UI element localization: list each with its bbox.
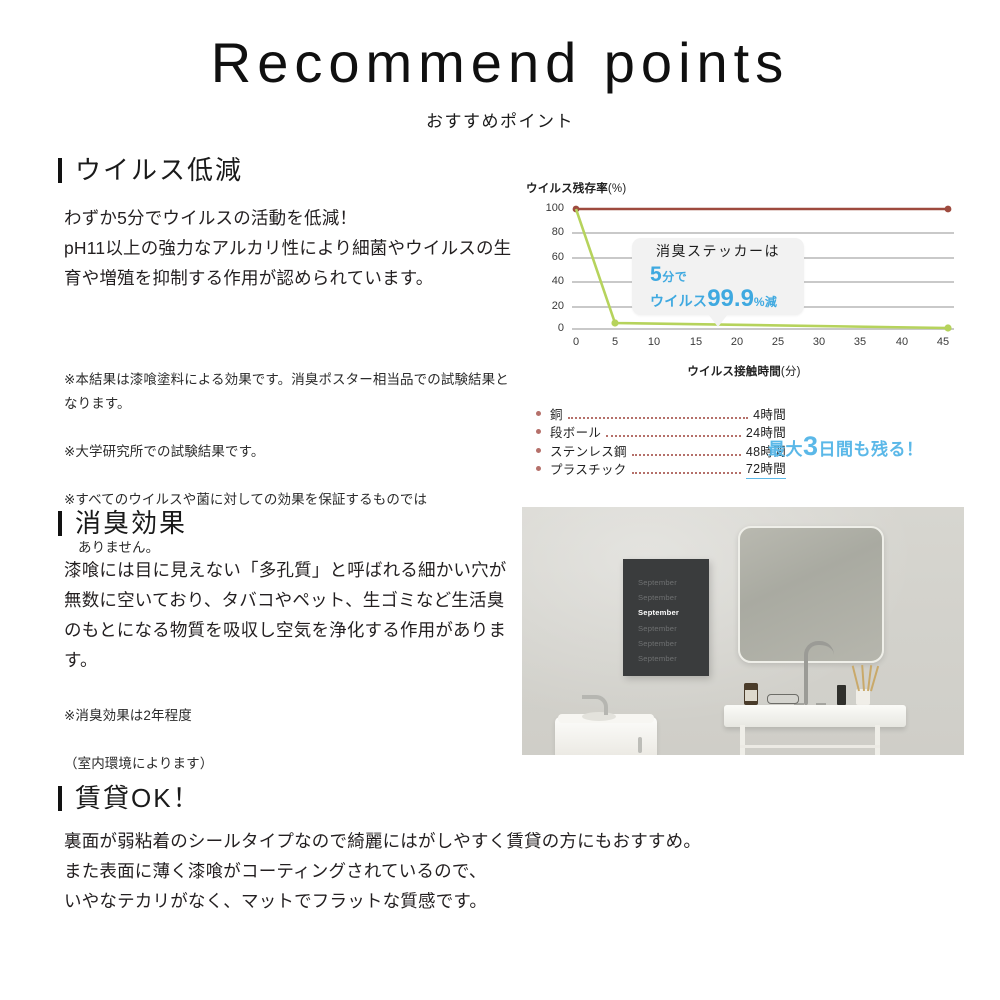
callout-minutes-number: 5	[650, 263, 662, 286]
washbasin-counter	[724, 705, 906, 727]
note-line: ※大学研究所での試験結果です。	[64, 440, 514, 464]
september-poster: September September September September …	[623, 559, 709, 676]
badge-suffix: 日間も残る！	[819, 440, 924, 459]
series-point-sticker-5min	[611, 319, 618, 326]
x-tick-5: 5	[612, 336, 618, 348]
callout-minutes-unit: 分	[662, 270, 675, 284]
virus-survival-legend: 銅 4時間 段ボール 24時間 ステンレス鋼 48時間 プラスチック 72時間	[536, 404, 786, 478]
x-tick-35: 35	[854, 336, 866, 348]
chart-y-axis-label: ウイルス残存率(%)	[526, 180, 626, 196]
legend-label: 銅	[550, 404, 563, 423]
section-heading-rental-ok: 賃貸OK！	[58, 785, 201, 811]
heading-accent-bar	[58, 158, 62, 183]
y-tick-20: 20	[552, 300, 564, 312]
x-tick-20: 20	[731, 336, 743, 348]
sink-faucet-neck	[804, 641, 834, 667]
note-line: ※消臭効果は2年程度	[64, 704, 464, 728]
callout-percent-sign: %	[754, 295, 765, 309]
x-tick-45: 45	[937, 336, 949, 348]
chart-callout-bubble: 消臭ステッカーは 5分で ウイルス99.9%減	[632, 238, 804, 315]
legend-leader-dots	[568, 408, 748, 419]
callout-line-3: ウイルス99.9%減	[650, 286, 777, 312]
legend-item-cardboard: 段ボール 24時間	[536, 423, 786, 442]
counter-leg-left	[740, 725, 745, 755]
section-title-text: ウイルス低減	[75, 157, 243, 183]
series-point-control-end	[945, 206, 952, 213]
y-tick-0: 0	[558, 322, 564, 334]
eyeglasses	[767, 694, 799, 704]
callout-line-2: 5分で	[650, 263, 687, 286]
callout-percent-number: 99.9	[707, 285, 754, 312]
section-title-text: 消臭効果	[75, 510, 187, 536]
reed-diffuser-jar	[856, 689, 870, 705]
sink-faucet-stem	[804, 663, 808, 705]
series-point-sticker-end	[944, 324, 951, 331]
section-body-virus-reduction: わずか5分でウイルスの活動を低減！ pH11以上の強力なアルカリ性により細菌やウ…	[64, 203, 516, 293]
page-subtitle: おすすめポイント	[0, 107, 1000, 132]
chart-x-axis-label-text: ウイルス接触時間	[687, 366, 781, 378]
page-root: Recommend points おすすめポイント ウイルス低減 わずか5分でウ…	[0, 0, 1000, 1000]
x-tick-0: 0	[573, 336, 579, 348]
legend-leader-dots	[606, 426, 741, 437]
chart-x-axis-ticks: 0 5 10 15 20 25 30 35 40 45	[572, 336, 954, 352]
counter-leg-right	[875, 725, 880, 755]
amber-bottle-label	[745, 690, 757, 701]
legend-dot-icon	[536, 411, 541, 416]
legend-item-copper: 銅 4時間	[536, 404, 786, 423]
x-tick-25: 25	[772, 336, 784, 348]
heading-accent-bar	[58, 786, 62, 811]
toilet-faucet-icon	[582, 695, 608, 715]
heading-accent-bar	[58, 511, 62, 536]
callout-reduce-word: 減	[765, 295, 777, 309]
legend-dot-icon	[536, 466, 541, 471]
poster-line: September	[623, 575, 709, 590]
chart-y-axis-label-unit: (%)	[608, 183, 627, 195]
page-header: Recommend points おすすめポイント	[0, 34, 1000, 132]
poster-line-highlight: September	[623, 605, 709, 620]
max-duration-badge: 最大3日間も残る！	[768, 431, 924, 462]
y-tick-80: 80	[552, 226, 564, 238]
chart-y-axis-label-text: ウイルス残存率	[526, 183, 608, 195]
page-title: Recommend points	[0, 34, 1000, 93]
x-tick-40: 40	[896, 336, 908, 348]
poster-line: September	[623, 636, 709, 651]
bathroom-photo: September September September September …	[522, 507, 964, 755]
y-tick-40: 40	[552, 275, 564, 287]
poster-line: September	[623, 621, 709, 636]
badge-prefix: 最大	[768, 440, 803, 459]
legend-leader-dots	[632, 463, 741, 474]
legend-dot-icon	[536, 429, 541, 434]
perfume-bottle	[837, 685, 846, 705]
section-heading-deodorizing: 消臭効果	[58, 510, 187, 536]
badge-number: 3	[803, 431, 819, 461]
counter-rail	[740, 745, 880, 748]
section-notes-virus-reduction: ※本結果は漆喰塗料による効果です。消臭ポスター相当品での試験結果となります。 ※…	[64, 344, 514, 584]
legend-value: 4時間	[753, 404, 786, 423]
legend-label: ステンレス鋼	[550, 441, 627, 460]
x-tick-30: 30	[813, 336, 825, 348]
callout-minutes-tail: で	[675, 270, 688, 284]
section-body-rental-ok: 裏面が弱粘着のシールタイプなので綺麗にはがしやすく賃貸の方にもおすすめ。 また表…	[64, 826, 844, 916]
legend-label: 段ボール	[550, 422, 601, 441]
legend-label: プラスチック	[550, 459, 627, 478]
y-tick-100: 100	[546, 202, 564, 214]
y-tick-60: 60	[552, 251, 564, 263]
legend-dot-icon	[536, 448, 541, 453]
callout-virus-word: ウイルス	[650, 293, 707, 309]
legend-item-stainless: ステンレス鋼 48時間	[536, 441, 786, 460]
toilet-flush-handle	[638, 737, 642, 753]
poster-line: September	[623, 590, 709, 605]
section-heading-virus-reduction: ウイルス低減	[58, 157, 243, 183]
note-line: ※本結果は漆喰塗料による効果です。消臭ポスター相当品での試験結果となります。	[64, 368, 514, 416]
x-tick-10: 10	[648, 336, 660, 348]
poster-line: September	[623, 651, 709, 666]
chart-x-axis-label: ウイルス接触時間(分)	[522, 363, 966, 379]
note-line: （室内環境によります）	[64, 752, 464, 776]
chart-x-axis-label-unit: (分)	[781, 366, 801, 378]
section-title-text: 賃貸OK！	[75, 785, 201, 811]
x-tick-15: 15	[690, 336, 702, 348]
section-body-deodorizing: 漆喰には目に見えない「多孔質」と呼ばれる細かい穴が無数に空いており、タバコやペッ…	[64, 555, 516, 675]
legend-leader-dots	[632, 445, 741, 456]
callout-line-1: 消臭ステッカーは	[656, 241, 780, 261]
legend-item-plastic: プラスチック 72時間	[536, 460, 786, 479]
